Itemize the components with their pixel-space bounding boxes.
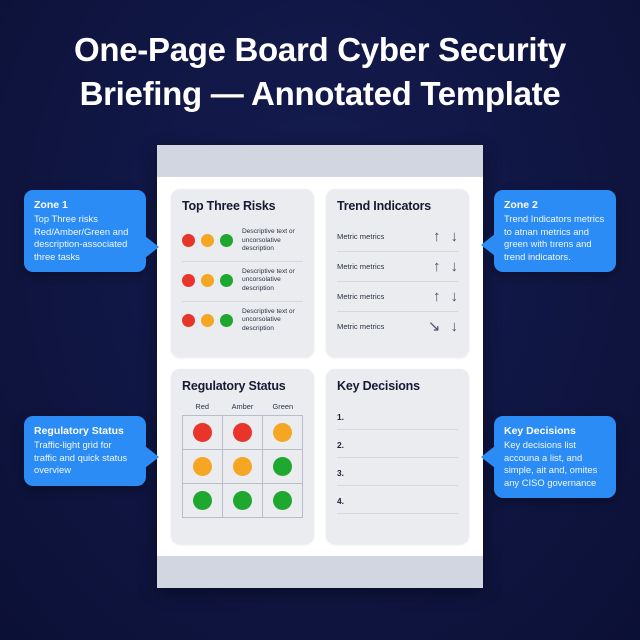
status-dot-red-icon — [233, 423, 252, 442]
risk-row[interactable]: Descriptive text or uncorsolative descri… — [182, 301, 303, 341]
callout-zone-1[interactable]: Zone 1 Top Three risks Red/Amber/Green a… — [24, 190, 146, 272]
rag-dot-red-icon — [182, 314, 195, 327]
arrow-down-icon[interactable]: ↓ — [451, 259, 459, 274]
card-trend-indicators[interactable]: Trend Indicators Metric metrics ↑ ↓ Metr… — [326, 189, 469, 357]
key-decision-number: 4. — [337, 496, 344, 506]
risk-description: Descriptive text or uncorsolative descri… — [242, 268, 303, 294]
arrow-up-icon[interactable]: ↑ — [433, 289, 441, 304]
arrow-down-icon[interactable]: ↓ — [451, 319, 459, 334]
callout-zone-2-title: Zone 2 — [504, 198, 606, 212]
risk-description: Descriptive text or uncorsolative descri… — [242, 308, 303, 334]
trend-metric-label: Metric metrics — [337, 322, 384, 331]
rag-dot-red-icon — [182, 234, 195, 247]
page-title-line-2: Briefing — Annotated Template — [0, 72, 640, 116]
arrow-up-icon[interactable]: ↑ — [433, 229, 441, 244]
callout-regulatory-status-body: Traffic-light grid for traffic and quick… — [34, 439, 136, 477]
callout-tail-left-icon — [481, 446, 495, 468]
callout-key-decisions-body: Key decisions list accouna a list, and s… — [504, 439, 606, 489]
card-key-decisions[interactable]: Key Decisions 1. 2. 3. 4. — [326, 369, 469, 544]
trend-metric-label: Metric metrics — [337, 232, 384, 241]
callout-regulatory-status-title: Regulatory Status — [34, 424, 136, 438]
status-dot-amber-icon — [233, 457, 252, 476]
card-title-top-three-risks: Top Three Risks — [182, 199, 303, 213]
key-decision-number: 3. — [337, 468, 344, 478]
trend-arrows: ↑ ↓ — [433, 289, 458, 304]
callout-zone-2-body: Trend Indicators metrics to atnan metric… — [504, 213, 606, 263]
page-title-line-1: One-Page Board Cyber Security — [0, 28, 640, 72]
status-dot-amber-icon — [273, 423, 292, 442]
trend-metric-label: Metric metrics — [337, 292, 384, 301]
callout-tail-right-icon — [145, 236, 159, 258]
rag-dot-amber-icon — [201, 234, 214, 247]
regulatory-column-header-amber: Amber — [222, 402, 262, 411]
card-regulatory-status[interactable]: Regulatory Status Red Amber Green — [171, 369, 314, 544]
regulatory-traffic-light-grid — [182, 415, 303, 518]
trend-row[interactable]: Metric metrics ↑ ↓ — [337, 222, 458, 251]
trend-row[interactable]: Metric metrics ↑ ↓ — [337, 281, 458, 311]
risk-rag-dots — [182, 314, 233, 327]
key-decision-number: 1. — [337, 412, 344, 422]
regulatory-cell[interactable] — [183, 484, 223, 518]
regulatory-cell[interactable] — [223, 484, 263, 518]
card-title-key-decisions: Key Decisions — [337, 379, 458, 393]
trend-row[interactable]: Metric metrics ↘ ↓ — [337, 311, 458, 341]
key-decision-row[interactable]: 1. — [337, 402, 458, 430]
sheet-footer-band — [157, 556, 483, 588]
regulatory-cell[interactable] — [223, 416, 263, 450]
page-title: One-Page Board Cyber Security Briefing —… — [0, 28, 640, 116]
arrow-up-icon[interactable]: ↑ — [433, 259, 441, 274]
regulatory-column-headers: Red Amber Green — [182, 402, 303, 411]
trend-arrows: ↑ ↓ — [433, 229, 458, 244]
trend-row[interactable]: Metric metrics ↑ ↓ — [337, 251, 458, 281]
risk-row[interactable]: Descriptive text or uncorsolative descri… — [182, 261, 303, 301]
status-dot-green-icon — [273, 491, 292, 510]
risk-rag-dots — [182, 274, 233, 287]
key-decision-row[interactable]: 2. — [337, 430, 458, 458]
callout-tail-right-icon — [145, 446, 159, 468]
key-decision-row[interactable]: 4. — [337, 486, 458, 514]
rag-dot-amber-icon — [201, 314, 214, 327]
regulatory-column-header-red: Red — [182, 402, 222, 411]
status-dot-red-icon — [193, 423, 212, 442]
sheet-body: Top Three Risks Descriptive text or unco… — [157, 177, 483, 556]
risk-rag-dots — [182, 234, 233, 247]
rag-dot-green-icon — [220, 234, 233, 247]
rag-dot-green-icon — [220, 274, 233, 287]
key-decision-number: 2. — [337, 440, 344, 450]
rag-dot-red-icon — [182, 274, 195, 287]
regulatory-cell[interactable] — [183, 416, 223, 450]
risk-description: Descriptive text or uncorsolative descri… — [242, 228, 303, 254]
arrow-down-right-icon[interactable]: ↘ — [428, 319, 441, 334]
sheet-header-band — [157, 145, 483, 177]
status-dot-green-icon — [193, 491, 212, 510]
trend-metric-label: Metric metrics — [337, 262, 384, 271]
regulatory-column-header-green: Green — [263, 402, 303, 411]
risk-row[interactable]: Descriptive text or uncorsolative descri… — [182, 222, 303, 261]
callout-zone-1-title: Zone 1 — [34, 198, 136, 212]
trend-arrows: ↘ ↓ — [428, 319, 458, 334]
key-decision-row[interactable]: 3. — [337, 458, 458, 486]
card-title-trend-indicators: Trend Indicators — [337, 199, 458, 213]
status-dot-green-icon — [233, 491, 252, 510]
arrow-down-icon[interactable]: ↓ — [451, 229, 459, 244]
regulatory-cell[interactable] — [223, 450, 263, 484]
callout-regulatory-status[interactable]: Regulatory Status Traffic-light grid for… — [24, 416, 146, 486]
rag-dot-amber-icon — [201, 274, 214, 287]
rag-dot-green-icon — [220, 314, 233, 327]
callout-zone-1-body: Top Three risks Red/Amber/Green and desc… — [34, 213, 136, 263]
status-dot-green-icon — [273, 457, 292, 476]
card-top-three-risks[interactable]: Top Three Risks Descriptive text or unco… — [171, 189, 314, 357]
callout-tail-left-icon — [481, 234, 495, 256]
callout-zone-2[interactable]: Zone 2 Trend Indicators metrics to atnan… — [494, 190, 616, 272]
regulatory-cell[interactable] — [263, 450, 303, 484]
callout-key-decisions-title: Key Decisions — [504, 424, 606, 438]
regulatory-cell[interactable] — [263, 484, 303, 518]
briefing-sheet: Top Three Risks Descriptive text or unco… — [157, 145, 483, 588]
regulatory-cell[interactable] — [183, 450, 223, 484]
card-title-regulatory-status: Regulatory Status — [182, 379, 303, 393]
callout-key-decisions[interactable]: Key Decisions Key decisions list accouna… — [494, 416, 616, 498]
regulatory-cell[interactable] — [263, 416, 303, 450]
sheet-row-bottom: Regulatory Status Red Amber Green — [171, 369, 469, 544]
trend-arrows: ↑ ↓ — [433, 259, 458, 274]
status-dot-amber-icon — [193, 457, 212, 476]
arrow-down-icon[interactable]: ↓ — [451, 289, 459, 304]
sheet-row-top: Top Three Risks Descriptive text or unco… — [171, 189, 469, 357]
